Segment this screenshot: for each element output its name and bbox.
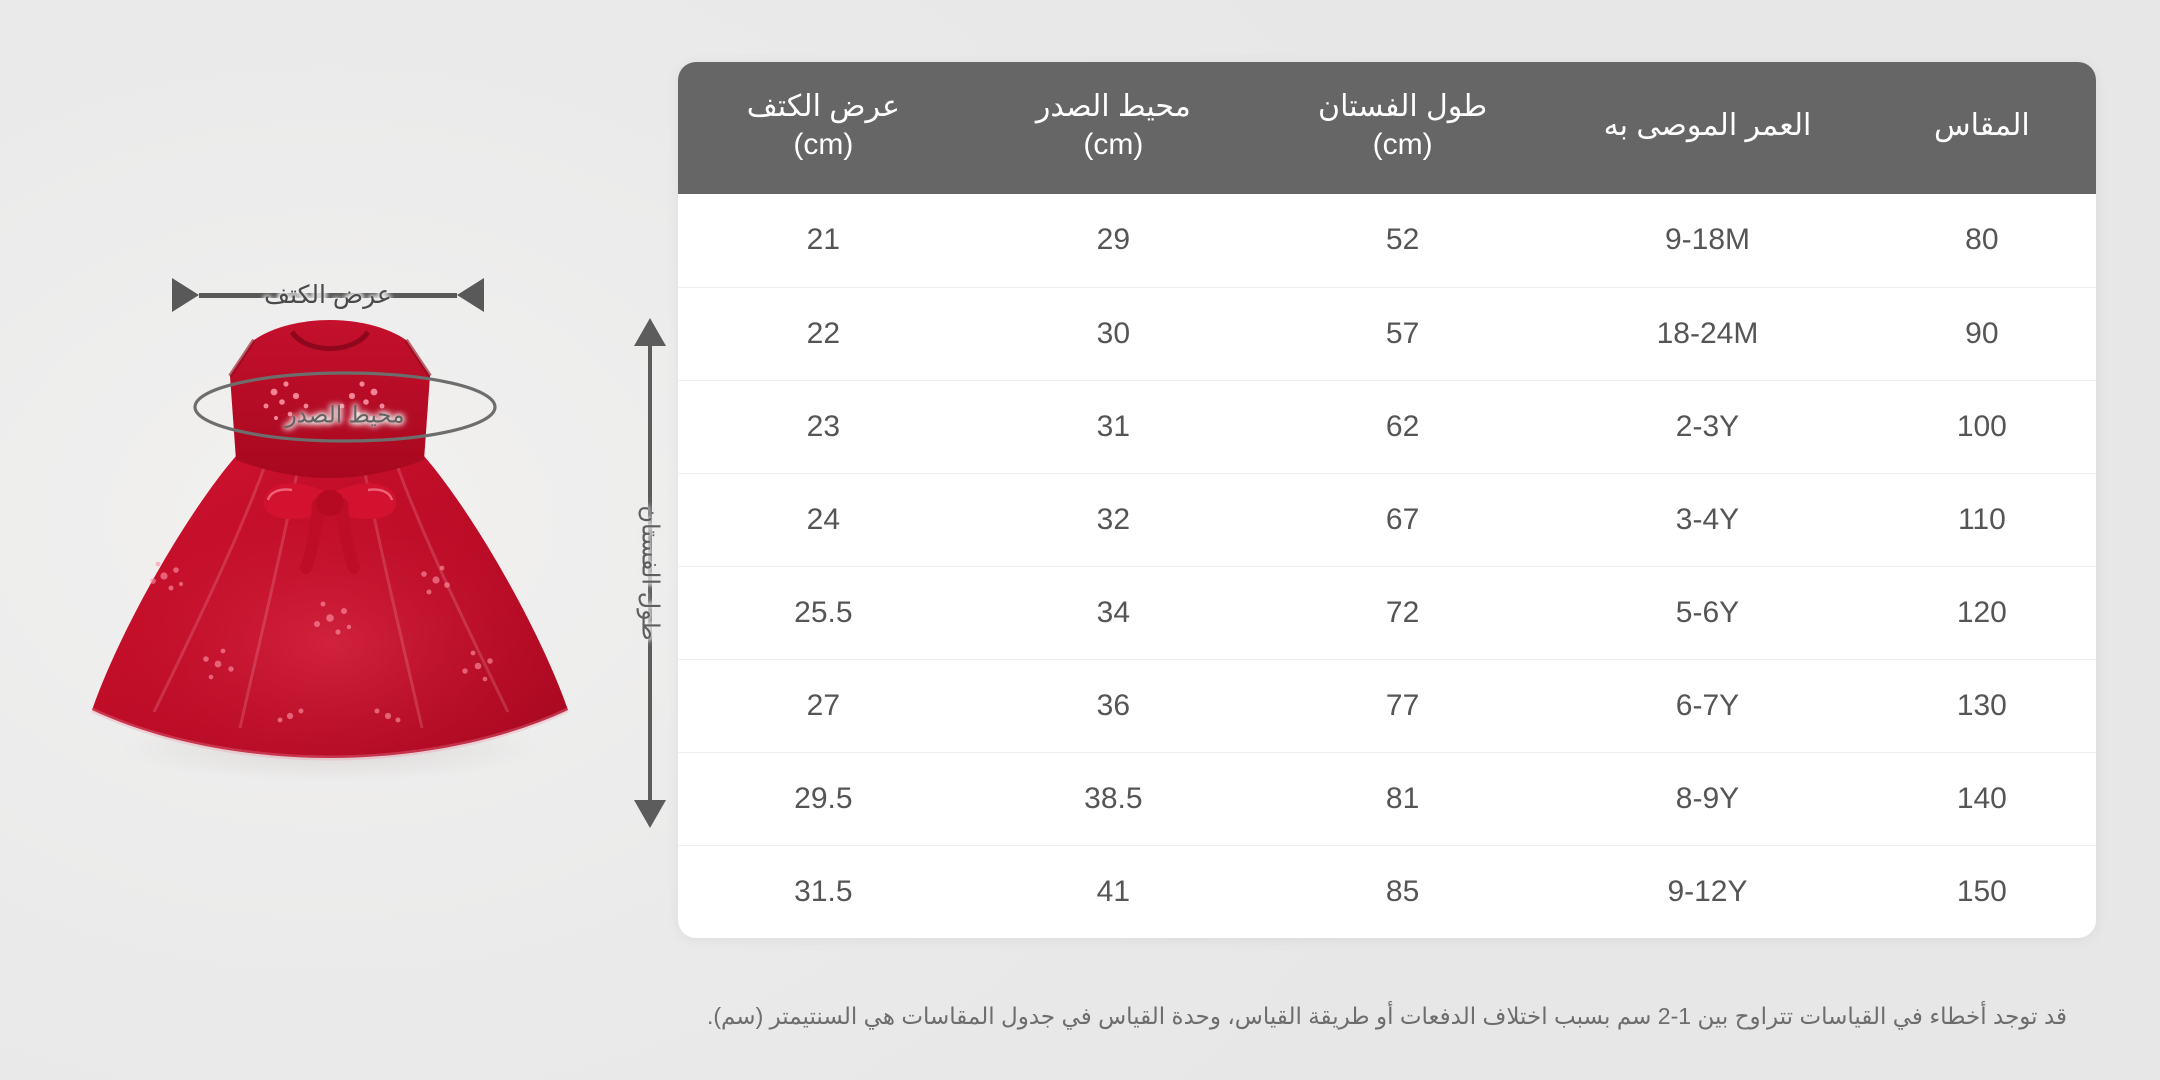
cell-age: 5-6Y	[1547, 566, 1867, 659]
table-row: 150 9-12Y 85 41 31.5	[678, 845, 2096, 938]
cell-chest: 29	[969, 194, 1258, 287]
cell-shoulder: 29.5	[678, 752, 969, 845]
cell-age: 6-7Y	[1547, 659, 1867, 752]
arrow-left-icon	[457, 278, 484, 312]
measurement-disclaimer: قد توجد أخطاء في القياسات تتراوح بين 1-2…	[678, 1000, 2096, 1032]
cell-chest: 38.5	[969, 752, 1258, 845]
cell-chest: 31	[969, 380, 1258, 473]
header-row: المقاس العمر الموصى به طول الفستان (cm) …	[678, 62, 2096, 194]
cell-shoulder: 24	[678, 473, 969, 566]
column-header-shoulder-label: عرض الكتف	[747, 90, 900, 123]
dress-length-label: طول الفستان	[636, 493, 665, 652]
table-row: 110 3-4Y 67 32 24	[678, 473, 2096, 566]
size-chart-canvas: عرض الكتف محيط الصدر طول الفستان	[0, 0, 2160, 1080]
size-table-card: المقاس العمر الموصى به طول الفستان (cm) …	[678, 62, 2096, 938]
cell-size: 120	[1868, 566, 2096, 659]
cell-length: 67	[1258, 473, 1547, 566]
cell-shoulder: 31.5	[678, 845, 969, 938]
chest-circumference-label: محيط الصدر	[286, 401, 405, 428]
size-table-header: المقاس العمر الموصى به طول الفستان (cm) …	[678, 62, 2096, 194]
cell-age: 9-12Y	[1547, 845, 1867, 938]
cell-age: 18-24M	[1547, 287, 1867, 380]
cell-length: 52	[1258, 194, 1547, 287]
cell-age: 9-18M	[1547, 194, 1867, 287]
cell-age: 3-4Y	[1547, 473, 1867, 566]
column-header-length-unit: (cm)	[1264, 126, 1541, 164]
table-row: 130 6-7Y 77 36 27	[678, 659, 2096, 752]
cell-chest: 34	[969, 566, 1258, 659]
cell-shoulder: 23	[678, 380, 969, 473]
cell-length: 77	[1258, 659, 1547, 752]
cell-length: 81	[1258, 752, 1547, 845]
chest-circumference-annotation: محيط الصدر	[180, 352, 510, 462]
dress-length-annotation: طول الفستان	[614, 318, 686, 828]
column-header-shoulder-unit: (cm)	[684, 126, 963, 164]
column-header-length: طول الفستان (cm)	[1258, 62, 1547, 194]
arrow-down-icon	[634, 800, 666, 828]
cell-size: 140	[1868, 752, 2096, 845]
size-table-body: 80 9-18M 52 29 21 90 18-24M 57 30 22 100…	[678, 194, 2096, 938]
cell-length: 57	[1258, 287, 1547, 380]
cell-shoulder: 25.5	[678, 566, 969, 659]
column-header-chest-unit: (cm)	[975, 126, 1252, 164]
column-header-age-label: العمر الموصى به	[1604, 109, 1812, 142]
cell-length: 85	[1258, 845, 1547, 938]
column-header-size: المقاس	[1868, 62, 2096, 194]
cell-size: 100	[1868, 380, 2096, 473]
shoulder-width-label: عرض الكتف	[254, 280, 402, 310]
cell-shoulder: 21	[678, 194, 969, 287]
table-row: 100 2-3Y 62 31 23	[678, 380, 2096, 473]
cell-shoulder: 22	[678, 287, 969, 380]
column-header-chest: محيط الصدر (cm)	[969, 62, 1258, 194]
cell-size: 110	[1868, 473, 2096, 566]
cell-shoulder: 27	[678, 659, 969, 752]
cell-length: 62	[1258, 380, 1547, 473]
column-header-length-label: طول الفستان	[1318, 90, 1487, 123]
table-row: 80 9-18M 52 29 21	[678, 194, 2096, 287]
table-row: 120 5-6Y 72 34 25.5	[678, 566, 2096, 659]
arrow-up-icon	[634, 318, 666, 346]
table-row: 140 8-9Y 81 38.5 29.5	[678, 752, 2096, 845]
cell-age: 8-9Y	[1547, 752, 1867, 845]
cell-size: 130	[1868, 659, 2096, 752]
arrow-right-icon	[172, 278, 199, 312]
cell-size: 80	[1868, 194, 2096, 287]
size-table: المقاس العمر الموصى به طول الفستان (cm) …	[678, 62, 2096, 938]
product-illustration-panel: عرض الكتف محيط الصدر طول الفستان	[0, 0, 690, 1080]
cell-size: 150	[1868, 845, 2096, 938]
column-header-age: العمر الموصى به	[1547, 62, 1867, 194]
cell-chest: 32	[969, 473, 1258, 566]
cell-age: 2-3Y	[1547, 380, 1867, 473]
cell-size: 90	[1868, 287, 2096, 380]
cell-chest: 30	[969, 287, 1258, 380]
cell-chest: 41	[969, 845, 1258, 938]
table-row: 90 18-24M 57 30 22	[678, 287, 2096, 380]
column-header-shoulder: عرض الكتف (cm)	[678, 62, 969, 194]
cell-length: 72	[1258, 566, 1547, 659]
cell-chest: 36	[969, 659, 1258, 752]
column-header-chest-label: محيط الصدر	[1036, 90, 1191, 123]
column-header-size-label: المقاس	[1934, 109, 2030, 142]
shoulder-width-annotation: عرض الكتف	[172, 278, 484, 312]
